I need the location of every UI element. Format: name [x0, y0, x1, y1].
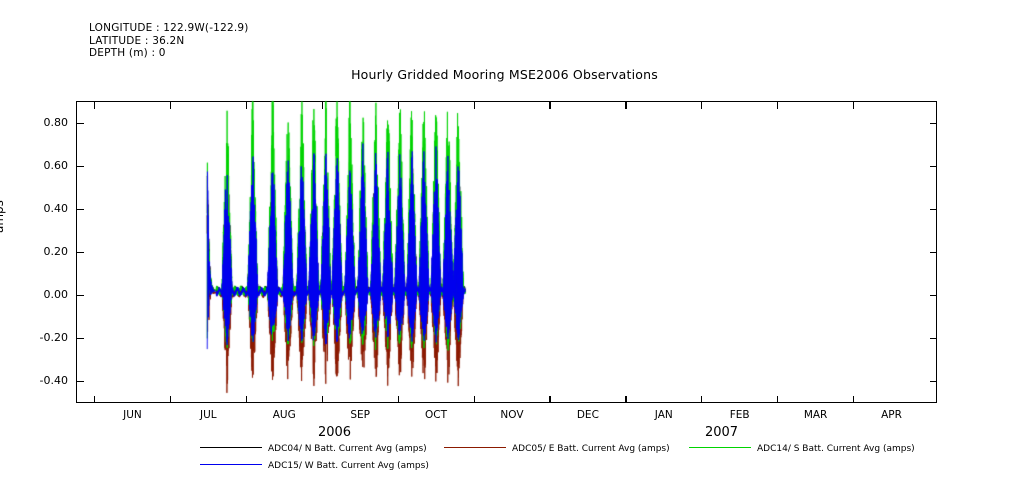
x-tick-mark — [549, 102, 550, 109]
legend-label: ADC04/ N Batt. Current Avg (amps) — [268, 444, 427, 454]
x-tick-mark — [853, 102, 854, 109]
legend-row: ADC04/ N Batt. Current Avg (amps)ADC05/ … — [0, 444, 1009, 461]
legend-color-swatch — [200, 464, 262, 465]
legend-color-swatch — [444, 447, 506, 448]
x-tick-mark — [777, 102, 778, 109]
y-tick-mark — [77, 209, 84, 210]
y-tick-label: 0.20 — [18, 245, 68, 258]
x-tick-mark — [170, 102, 171, 109]
x-tick-mark — [701, 396, 702, 403]
y-tick-label: 0.00 — [18, 288, 68, 301]
x-tick-mark — [246, 102, 247, 109]
x-tick-mark — [322, 102, 323, 109]
y-tick-mark-right — [930, 166, 937, 167]
y-tick-mark — [77, 381, 84, 382]
legend-item: ADC05/ E Batt. Current Avg (amps) — [444, 444, 670, 455]
x-tick-label: NOV — [484, 409, 540, 421]
x-tick-label: APR — [863, 409, 919, 421]
x-axis-year-label: 2006 — [295, 425, 375, 440]
legend-color-swatch — [689, 447, 751, 448]
x-tick-mark — [322, 396, 323, 403]
x-tick-label: SEP — [332, 409, 388, 421]
legend-label: ADC05/ E Batt. Current Avg (amps) — [512, 444, 670, 454]
x-axis-year-label: 2007 — [682, 425, 762, 440]
y-tick-mark — [77, 123, 84, 124]
x-tick-mark — [625, 396, 626, 403]
y-tick-mark — [77, 166, 84, 167]
x-tick-label: OCT — [408, 409, 464, 421]
y-tick-label: -0.40 — [18, 374, 68, 387]
y-tick-mark-right — [930, 123, 937, 124]
y-tick-label: -0.20 — [18, 331, 68, 344]
y-tick-mark — [77, 295, 84, 296]
x-tick-label: JUN — [104, 409, 160, 421]
y-tick-label: 0.80 — [18, 116, 68, 129]
x-tick-mark — [246, 396, 247, 403]
x-tick-label: MAR — [788, 409, 844, 421]
y-tick-mark — [77, 252, 84, 253]
y-tick-mark — [77, 338, 84, 339]
x-tick-mark — [625, 102, 626, 109]
x-tick-mark — [474, 102, 475, 109]
x-tick-mark — [94, 396, 95, 403]
x-tick-mark — [701, 102, 702, 109]
y-tick-mark-right — [930, 338, 937, 339]
x-tick-mark — [853, 396, 854, 403]
x-tick-label: AUG — [256, 409, 312, 421]
y-tick-mark-right — [930, 295, 937, 296]
legend-label: ADC14/ S Batt. Current Avg (amps) — [757, 444, 915, 454]
x-tick-mark — [398, 102, 399, 109]
x-tick-mark — [398, 396, 399, 403]
y-tick-mark-right — [930, 381, 937, 382]
x-tick-label: JAN — [636, 409, 692, 421]
x-tick-mark — [170, 396, 171, 403]
legend-item: ADC15/ W Batt. Current Avg (amps) — [200, 461, 429, 472]
legend-row: ADC15/ W Batt. Current Avg (amps) — [0, 461, 1009, 478]
y-tick-label: 0.60 — [18, 159, 68, 172]
y-tick-label: 0.40 — [18, 202, 68, 215]
y-tick-mark-right — [930, 209, 937, 210]
x-tick-mark — [474, 396, 475, 403]
x-tick-label: FEB — [712, 409, 768, 421]
y-tick-mark-right — [930, 252, 937, 253]
legend-item: ADC04/ N Batt. Current Avg (amps) — [200, 444, 427, 455]
legend-color-swatch — [200, 447, 262, 448]
x-tick-mark — [777, 396, 778, 403]
x-tick-mark — [94, 102, 95, 109]
x-tick-label: JUL — [180, 409, 236, 421]
chart-plot-area — [0, 0, 1009, 504]
chart-legend: ADC04/ N Batt. Current Avg (amps)ADC05/ … — [0, 444, 1009, 478]
x-tick-label: DEC — [560, 409, 616, 421]
legend-label: ADC15/ W Batt. Current Avg (amps) — [268, 461, 429, 471]
legend-item: ADC14/ S Batt. Current Avg (amps) — [689, 444, 915, 455]
x-tick-mark — [549, 396, 550, 403]
